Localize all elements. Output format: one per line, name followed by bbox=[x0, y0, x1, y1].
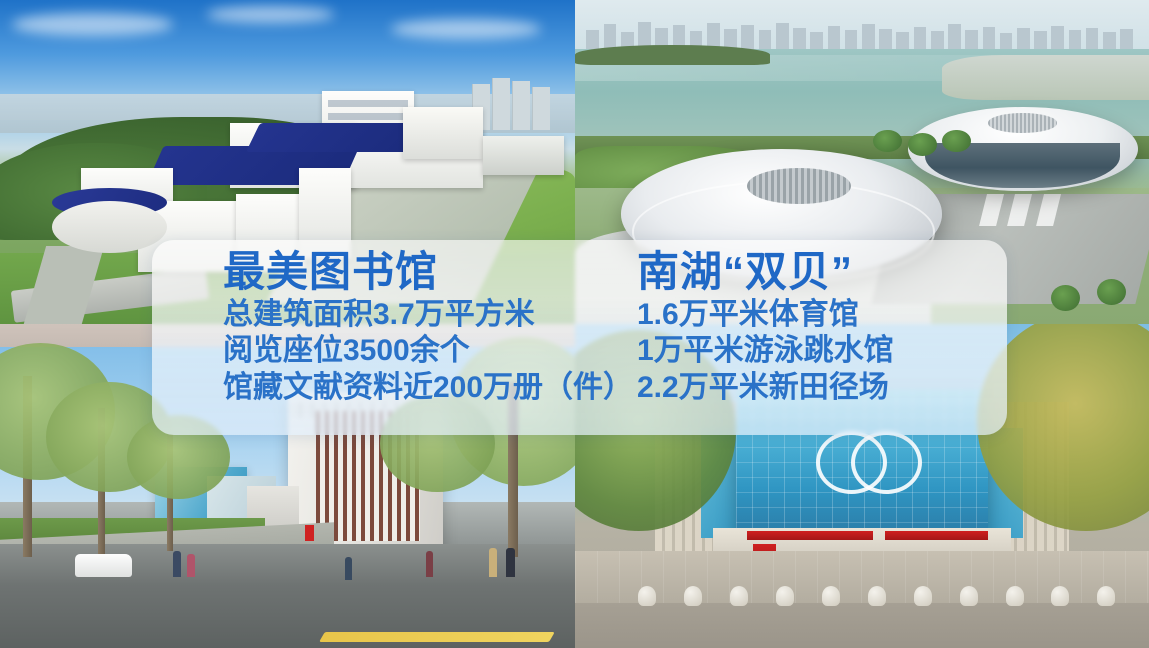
library-fact-line: 总建筑面积3.7万平方米 bbox=[223, 297, 607, 334]
parked-car bbox=[75, 554, 133, 577]
window-band bbox=[328, 113, 409, 119]
pedestrian bbox=[173, 551, 181, 577]
tree bbox=[908, 133, 937, 156]
stadium-roof-oculus bbox=[747, 168, 850, 204]
academic-building bbox=[483, 136, 564, 175]
tree bbox=[1097, 279, 1126, 305]
high-rise bbox=[532, 87, 550, 129]
caption-overlay-panel: 最美图书馆 总建筑面积3.7万平方米 阅览座位3500余个 馆藏文献资料近200… bbox=[152, 240, 1007, 435]
poster-stage: 最美图书馆 总建筑面积3.7万平方米 阅览座位3500余个 馆藏文献资料近200… bbox=[0, 0, 1149, 648]
library-fact-line: 阅览座位3500余个 bbox=[223, 333, 607, 370]
red-banner bbox=[747, 531, 873, 539]
pedestrian bbox=[187, 554, 195, 577]
high-rise bbox=[512, 81, 530, 130]
tree bbox=[1051, 285, 1080, 311]
pedestrian bbox=[506, 548, 515, 577]
academic-building bbox=[403, 107, 484, 159]
pedestrian bbox=[489, 548, 498, 577]
library-fact-line: 馆藏文献资料近200万册（件） bbox=[223, 370, 607, 407]
caption-block-library: 最美图书馆 总建筑面积3.7万平方米 阅览座位3500余个 馆藏文献资料近200… bbox=[152, 250, 607, 435]
library-dome bbox=[52, 201, 167, 253]
cloud bbox=[391, 19, 541, 38]
stadium-title: 南湖“双贝” bbox=[637, 250, 1007, 295]
tree bbox=[942, 130, 971, 153]
window-band bbox=[328, 100, 409, 106]
red-banner bbox=[885, 531, 988, 539]
far-bank-buildings bbox=[942, 55, 1149, 100]
flag bbox=[305, 525, 314, 541]
stadium-roof-oculus bbox=[988, 113, 1057, 132]
caption-block-stadium: 南湖“双贝” 1.6万平米体育馆 1万平米游泳跳水馆 2.2万平米新田径场 bbox=[607, 250, 1007, 435]
stadium-fact-line: 1万平米游泳跳水馆 bbox=[637, 333, 1007, 370]
stadium-fact-line: 2.2万平米新田径场 bbox=[637, 370, 1007, 407]
cloud bbox=[207, 6, 334, 22]
pedestrian bbox=[345, 557, 352, 580]
library-title: 最美图书馆 bbox=[223, 250, 607, 295]
stadium-fact-line: 1.6万平米体育馆 bbox=[637, 297, 1007, 334]
interlocking-ring-emblem bbox=[851, 431, 922, 494]
high-rise bbox=[492, 78, 510, 130]
road-centre-line bbox=[319, 632, 555, 642]
pedestrian bbox=[426, 551, 433, 577]
lake-island bbox=[575, 45, 770, 64]
cloud bbox=[12, 13, 173, 36]
